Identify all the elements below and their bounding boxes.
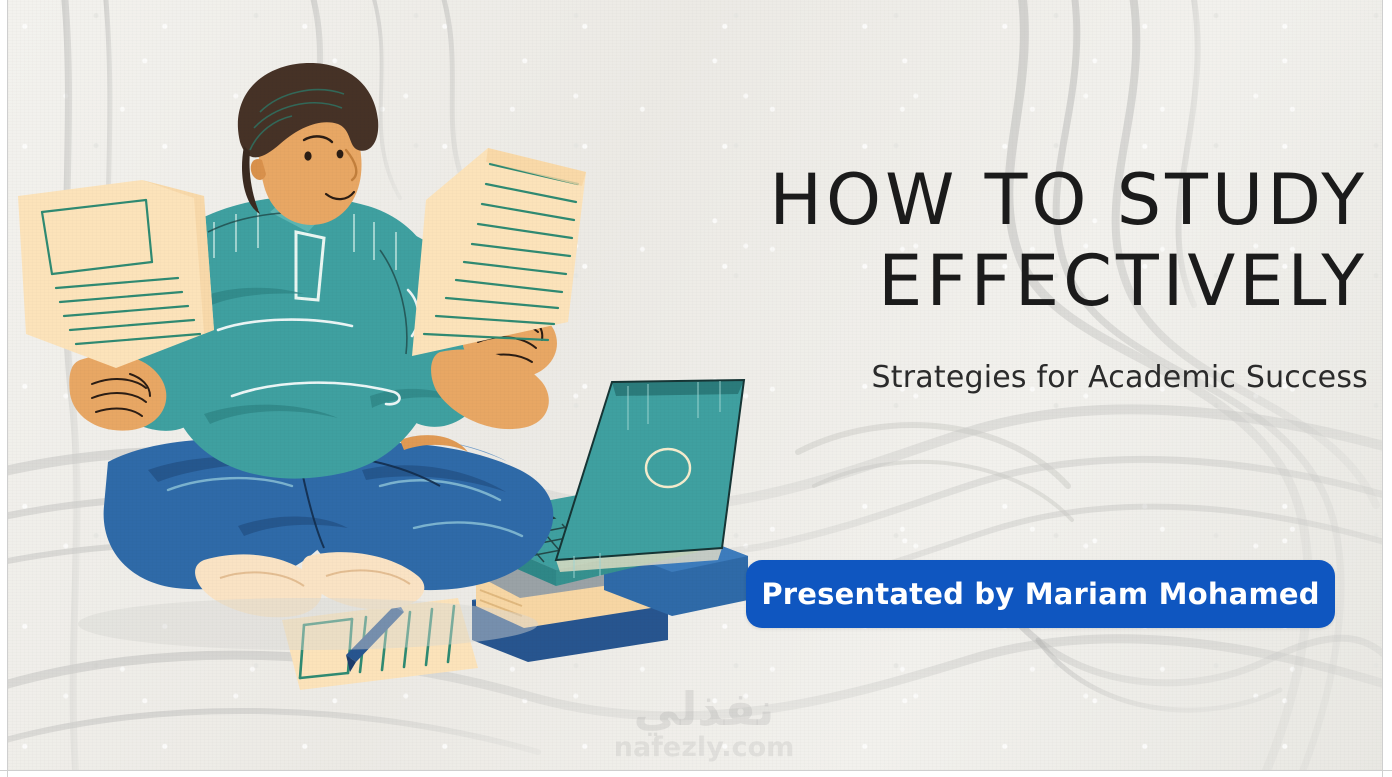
- slide-bottom-border: [0, 770, 1392, 771]
- slide-right-border: [1382, 0, 1383, 777]
- presenter-badge-label: Presentated by Mariam Mohamed: [761, 577, 1319, 611]
- presentation-slide: HOW TO STUDY EFFECTIVELY Strategies for …: [0, 0, 1392, 777]
- right-paper-sheet: [412, 148, 586, 356]
- page-title-line-2: EFFECTIVELY: [668, 241, 1368, 322]
- title-block: HOW TO STUDY EFFECTIVELY Strategies for …: [668, 160, 1368, 395]
- slide-canvas: HOW TO STUDY EFFECTIVELY Strategies for …: [8, 0, 1382, 770]
- left-paper-sheet: [18, 180, 214, 368]
- presenter-badge[interactable]: Presentated by Mariam Mohamed: [746, 560, 1335, 628]
- page-subtitle: Strategies for Academic Success: [668, 360, 1368, 395]
- page-title-line-1: HOW TO STUDY: [668, 160, 1368, 241]
